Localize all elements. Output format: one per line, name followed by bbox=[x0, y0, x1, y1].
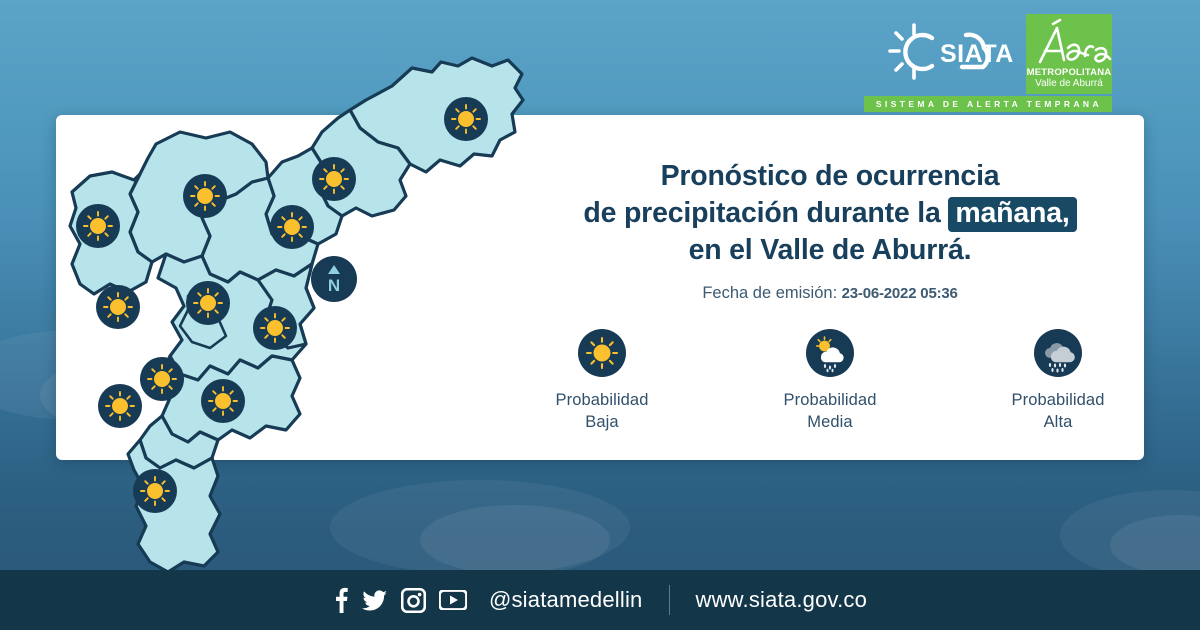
website-url[interactable]: www.siata.gov.co bbox=[696, 587, 868, 613]
station-marker-sun[interactable] bbox=[183, 174, 227, 218]
infographic-root: SIATA METROPOLITANA Valle de Aburrá SIST… bbox=[0, 0, 1200, 630]
emission-date-label: Fecha de emisión: bbox=[702, 284, 837, 302]
sun-icon bbox=[578, 329, 626, 377]
legend-label-baja-line1: Probabilidad bbox=[556, 391, 649, 409]
legend-label-baja: Probabilidad Baja bbox=[556, 389, 649, 433]
title-line-2: de precipitación durante la mañana, bbox=[520, 195, 1140, 232]
siata-tagline: SISTEMA DE ALERTA TEMPRANA bbox=[864, 96, 1112, 112]
instagram-icon[interactable] bbox=[401, 588, 426, 613]
area-logo-line2: Valle de Aburrá bbox=[1035, 78, 1103, 90]
title-line-3: en el Valle de Aburrá. bbox=[520, 232, 1140, 269]
cloud-heavy-rain-icon bbox=[1034, 329, 1082, 377]
social-handle[interactable]: @siatamedellin bbox=[489, 587, 643, 613]
legend-item-alta: Probabilidad Alta bbox=[983, 329, 1133, 433]
station-marker-sun[interactable] bbox=[201, 379, 245, 423]
facebook-icon[interactable] bbox=[333, 587, 349, 613]
map-markers-layer: N bbox=[60, 44, 560, 584]
sun-cloud-rain-icon bbox=[806, 329, 854, 377]
siata-logo: SIATA bbox=[888, 21, 1014, 87]
station-marker-sun[interactable] bbox=[444, 97, 488, 141]
compass-label: N bbox=[328, 276, 340, 295]
area-metropolitana-logo: METROPOLITANA Valle de Aburrá bbox=[1026, 14, 1112, 94]
legend-label-media-line2: Media bbox=[807, 413, 852, 431]
station-marker-sun[interactable] bbox=[98, 384, 142, 428]
station-marker-sun[interactable] bbox=[76, 204, 120, 248]
legend-item-baja: Probabilidad Baja bbox=[527, 329, 677, 433]
social-icons bbox=[333, 587, 467, 613]
emission-date: Fecha de emisión: 23-06-2022 05:36 bbox=[520, 284, 1140, 303]
title-line-2-text: de precipitación durante la bbox=[583, 197, 940, 229]
station-marker-sun[interactable] bbox=[140, 357, 184, 401]
station-marker-sun[interactable] bbox=[312, 157, 356, 201]
legend-label-alta-line1: Probabilidad bbox=[1012, 391, 1105, 409]
forecast-content: Pronóstico de ocurrencia de precipitació… bbox=[520, 125, 1140, 433]
station-marker-sun[interactable] bbox=[253, 306, 297, 350]
legend-item-media: Probabilidad Media bbox=[755, 329, 905, 433]
youtube-icon[interactable] bbox=[439, 590, 467, 610]
legend-label-media-line1: Probabilidad bbox=[784, 391, 877, 409]
station-marker-sun[interactable] bbox=[133, 469, 177, 513]
legend-label-alta-line2: Alta bbox=[1044, 413, 1073, 431]
area-script-icon bbox=[1026, 18, 1112, 70]
station-marker-sun[interactable] bbox=[96, 285, 140, 329]
north-arrow-icon: N bbox=[311, 256, 357, 302]
title-line-1: Pronóstico de ocurrencia bbox=[520, 158, 1140, 195]
legend-label-baja-line2: Baja bbox=[585, 413, 618, 431]
legend-label-alta: Probabilidad Alta bbox=[1012, 389, 1105, 433]
svg-text:SIATA: SIATA bbox=[940, 40, 1014, 68]
legend-label-media: Probabilidad Media bbox=[784, 389, 877, 433]
twitter-icon[interactable] bbox=[362, 587, 388, 613]
header-logos: SIATA METROPOLITANA Valle de Aburrá bbox=[888, 14, 1112, 94]
station-marker-sun[interactable] bbox=[186, 281, 230, 325]
emission-date-value: 23-06-2022 05:36 bbox=[842, 285, 958, 302]
footer-content: @siatamedellin www.siata.gov.co bbox=[333, 585, 867, 615]
station-marker-sun[interactable] bbox=[270, 205, 314, 249]
page-title: Pronóstico de ocurrencia de precipitació… bbox=[520, 125, 1140, 269]
footer-divider bbox=[669, 585, 670, 615]
title-highlight-manana: mañana, bbox=[948, 197, 1076, 232]
footer-bar: @siatamedellin www.siata.gov.co bbox=[0, 570, 1200, 630]
probability-legend: Probabilidad Baja bbox=[520, 329, 1140, 433]
